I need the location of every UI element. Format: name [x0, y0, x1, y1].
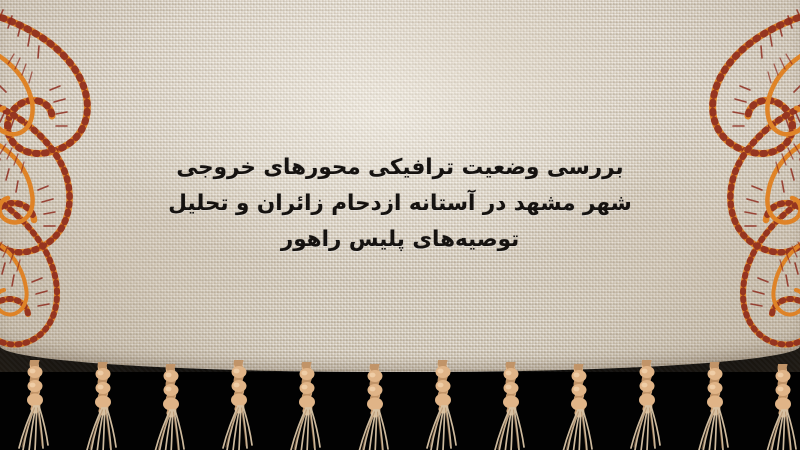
title-line-1: بررسی وضعیت ترافیکی محورهای خروجی	[0, 150, 800, 186]
tassel	[216, 360, 262, 450]
slide-canvas: بررسی وضعیت ترافیکی محورهای خروجی شهر مش…	[0, 0, 800, 450]
tassel	[692, 362, 738, 450]
tassel	[556, 364, 602, 450]
title-line-2: شهر مشهد در آستانه ازدحام زائران و تحلیل	[0, 186, 800, 222]
slide-title: بررسی وضعیت ترافیکی محورهای خروجی شهر مش…	[0, 150, 800, 258]
tassel	[80, 362, 126, 450]
title-line-3: توصیه‌های پلیس راهور	[0, 222, 800, 258]
tassel	[352, 364, 398, 450]
tassel	[148, 364, 194, 450]
tassel	[420, 360, 466, 450]
tassel	[760, 364, 800, 450]
tassel	[488, 362, 534, 450]
tassel	[284, 362, 330, 450]
tassel	[624, 360, 670, 450]
tassel	[12, 360, 58, 450]
tassel-fringe	[0, 352, 800, 450]
